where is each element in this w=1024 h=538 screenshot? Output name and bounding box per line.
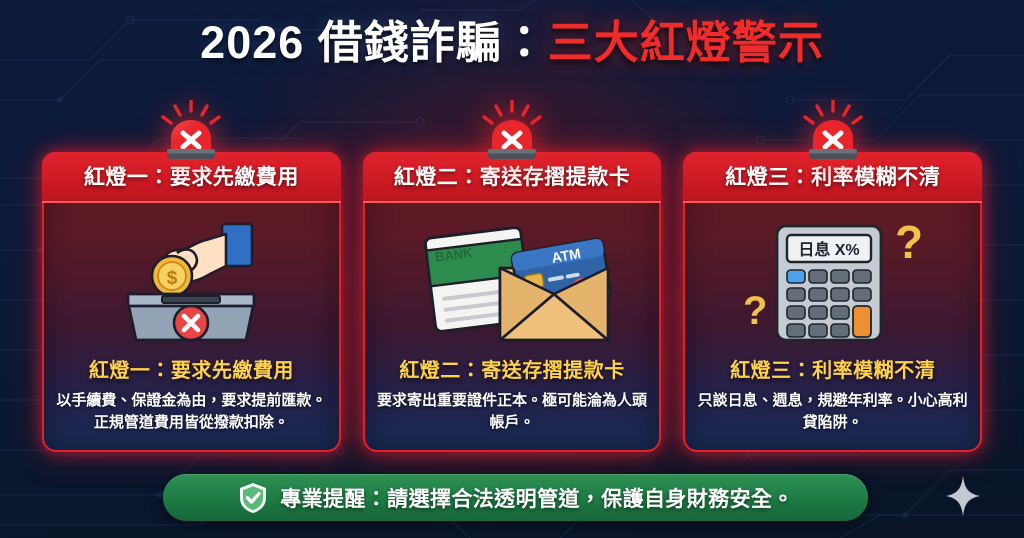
title-prefix: 2026 借錢詐騙： <box>200 17 548 68</box>
card-2-subtitle: 紅燈二：寄送存摺提款卡 <box>377 354 648 383</box>
hand-coin-donation-box-icon: $ <box>106 216 276 346</box>
alarm-siren-x-icon <box>797 100 869 162</box>
question-mark-icon: ? <box>895 216 923 268</box>
card-1-body: 紅燈一：要求先繳費用 以手續費、保證金為由，要求提前匯款。正規管道費用皆從撥款扣… <box>44 354 339 450</box>
warning-card-1[interactable]: 紅燈一：要求先繳費用 $ <box>42 152 341 452</box>
infographic-canvas: 2026 借錢詐騙：三大紅燈警示 <box>0 0 1024 538</box>
card-2-figure: BANK ATM <box>365 203 660 354</box>
bankbook-envelope-atm-card-icon: BANK ATM <box>412 216 612 346</box>
page-title: 2026 借錢詐騙：三大紅燈警示 <box>0 18 1024 68</box>
warning-card-2[interactable]: 紅燈二：寄送存摺提款卡 BANK <box>363 152 662 452</box>
card-1-description: 以手續費、保證金為由，要求提前匯款。正規管道費用皆從撥款扣除。 <box>56 390 327 434</box>
footer-advice-text: 專業提醒：請選擇合法透明管道，保護自身財務安全。 <box>280 483 794 513</box>
title-highlight: 三大紅燈警示 <box>548 17 824 68</box>
question-mark-icon: ? <box>743 289 767 333</box>
card-3-description: 只談日息、週息，規避年利率。小心高利貸陷阱。 <box>697 390 968 434</box>
calculator-display-label: 日息 X% <box>798 240 859 259</box>
card-2-body: 紅燈二：寄送存摺提款卡 要求寄出重要證件正本。極可能淪為人頭帳戶。 <box>365 354 660 450</box>
card-2-description: 要求寄出重要證件正本。極可能淪為人頭帳戶。 <box>377 390 648 434</box>
four-point-star-sparkle-icon <box>946 476 980 516</box>
shield-check-icon <box>237 481 269 515</box>
alarm-siren-x-icon <box>155 100 227 162</box>
warning-card-3[interactable]: 紅燈三：利率模糊不清 ? ? 日息 X% <box>683 152 982 452</box>
svg-text:$: $ <box>167 268 178 289</box>
card-3-subtitle: 紅燈三：利率模糊不清 <box>697 354 968 383</box>
card-1-subtitle: 紅燈一：要求先繳費用 <box>56 354 327 383</box>
calculator-question-mark-icon: ? ? 日息 X% <box>733 216 933 346</box>
warning-cards-row: 紅燈一：要求先繳費用 $ <box>42 100 982 452</box>
alarm-siren-x-icon <box>476 100 548 162</box>
footer-advice-banner[interactable]: 專業提醒：請選擇合法透明管道，保護自身財務安全。 <box>163 474 868 521</box>
card-1-figure: $ <box>44 203 339 354</box>
card-3-figure: ? ? 日息 X% <box>685 203 980 354</box>
card-3-body: 紅燈三：利率模糊不清 只談日息、週息，規避年利率。小心高利貸陷阱。 <box>685 354 980 450</box>
